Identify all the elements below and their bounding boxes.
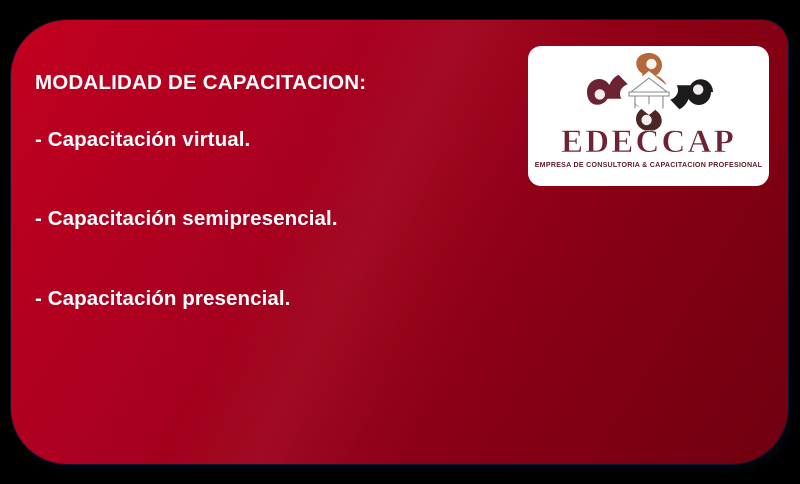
content-card: MODALIDAD DE CAPACITACION: - Capacitació… — [11, 20, 788, 464]
modality-list: - Capacitación virtual. - Capacitación s… — [35, 129, 505, 311]
text-content-block: MODALIDAD DE CAPACITACION: - Capacitació… — [35, 72, 505, 310]
company-logo-panel: EDECCAP EMPRESA DE CONSULTORIA & CAPACIT… — [528, 46, 769, 186]
four-people-around-table-icon — [585, 51, 713, 133]
slide-title: MODALIDAD DE CAPACITACION: — [35, 72, 505, 95]
logo-tagline: EMPRESA DE CONSULTORIA & CAPACITACION PR… — [535, 161, 763, 169]
slide-root: MODALIDAD DE CAPACITACION: - Capacitació… — [0, 0, 800, 484]
list-item: - Capacitación presencial. — [35, 288, 505, 311]
list-item: - Capacitación semipresencial. — [35, 208, 505, 231]
logo-wordmark: EDECCAP — [561, 127, 736, 159]
list-item: - Capacitación virtual. — [35, 129, 505, 152]
